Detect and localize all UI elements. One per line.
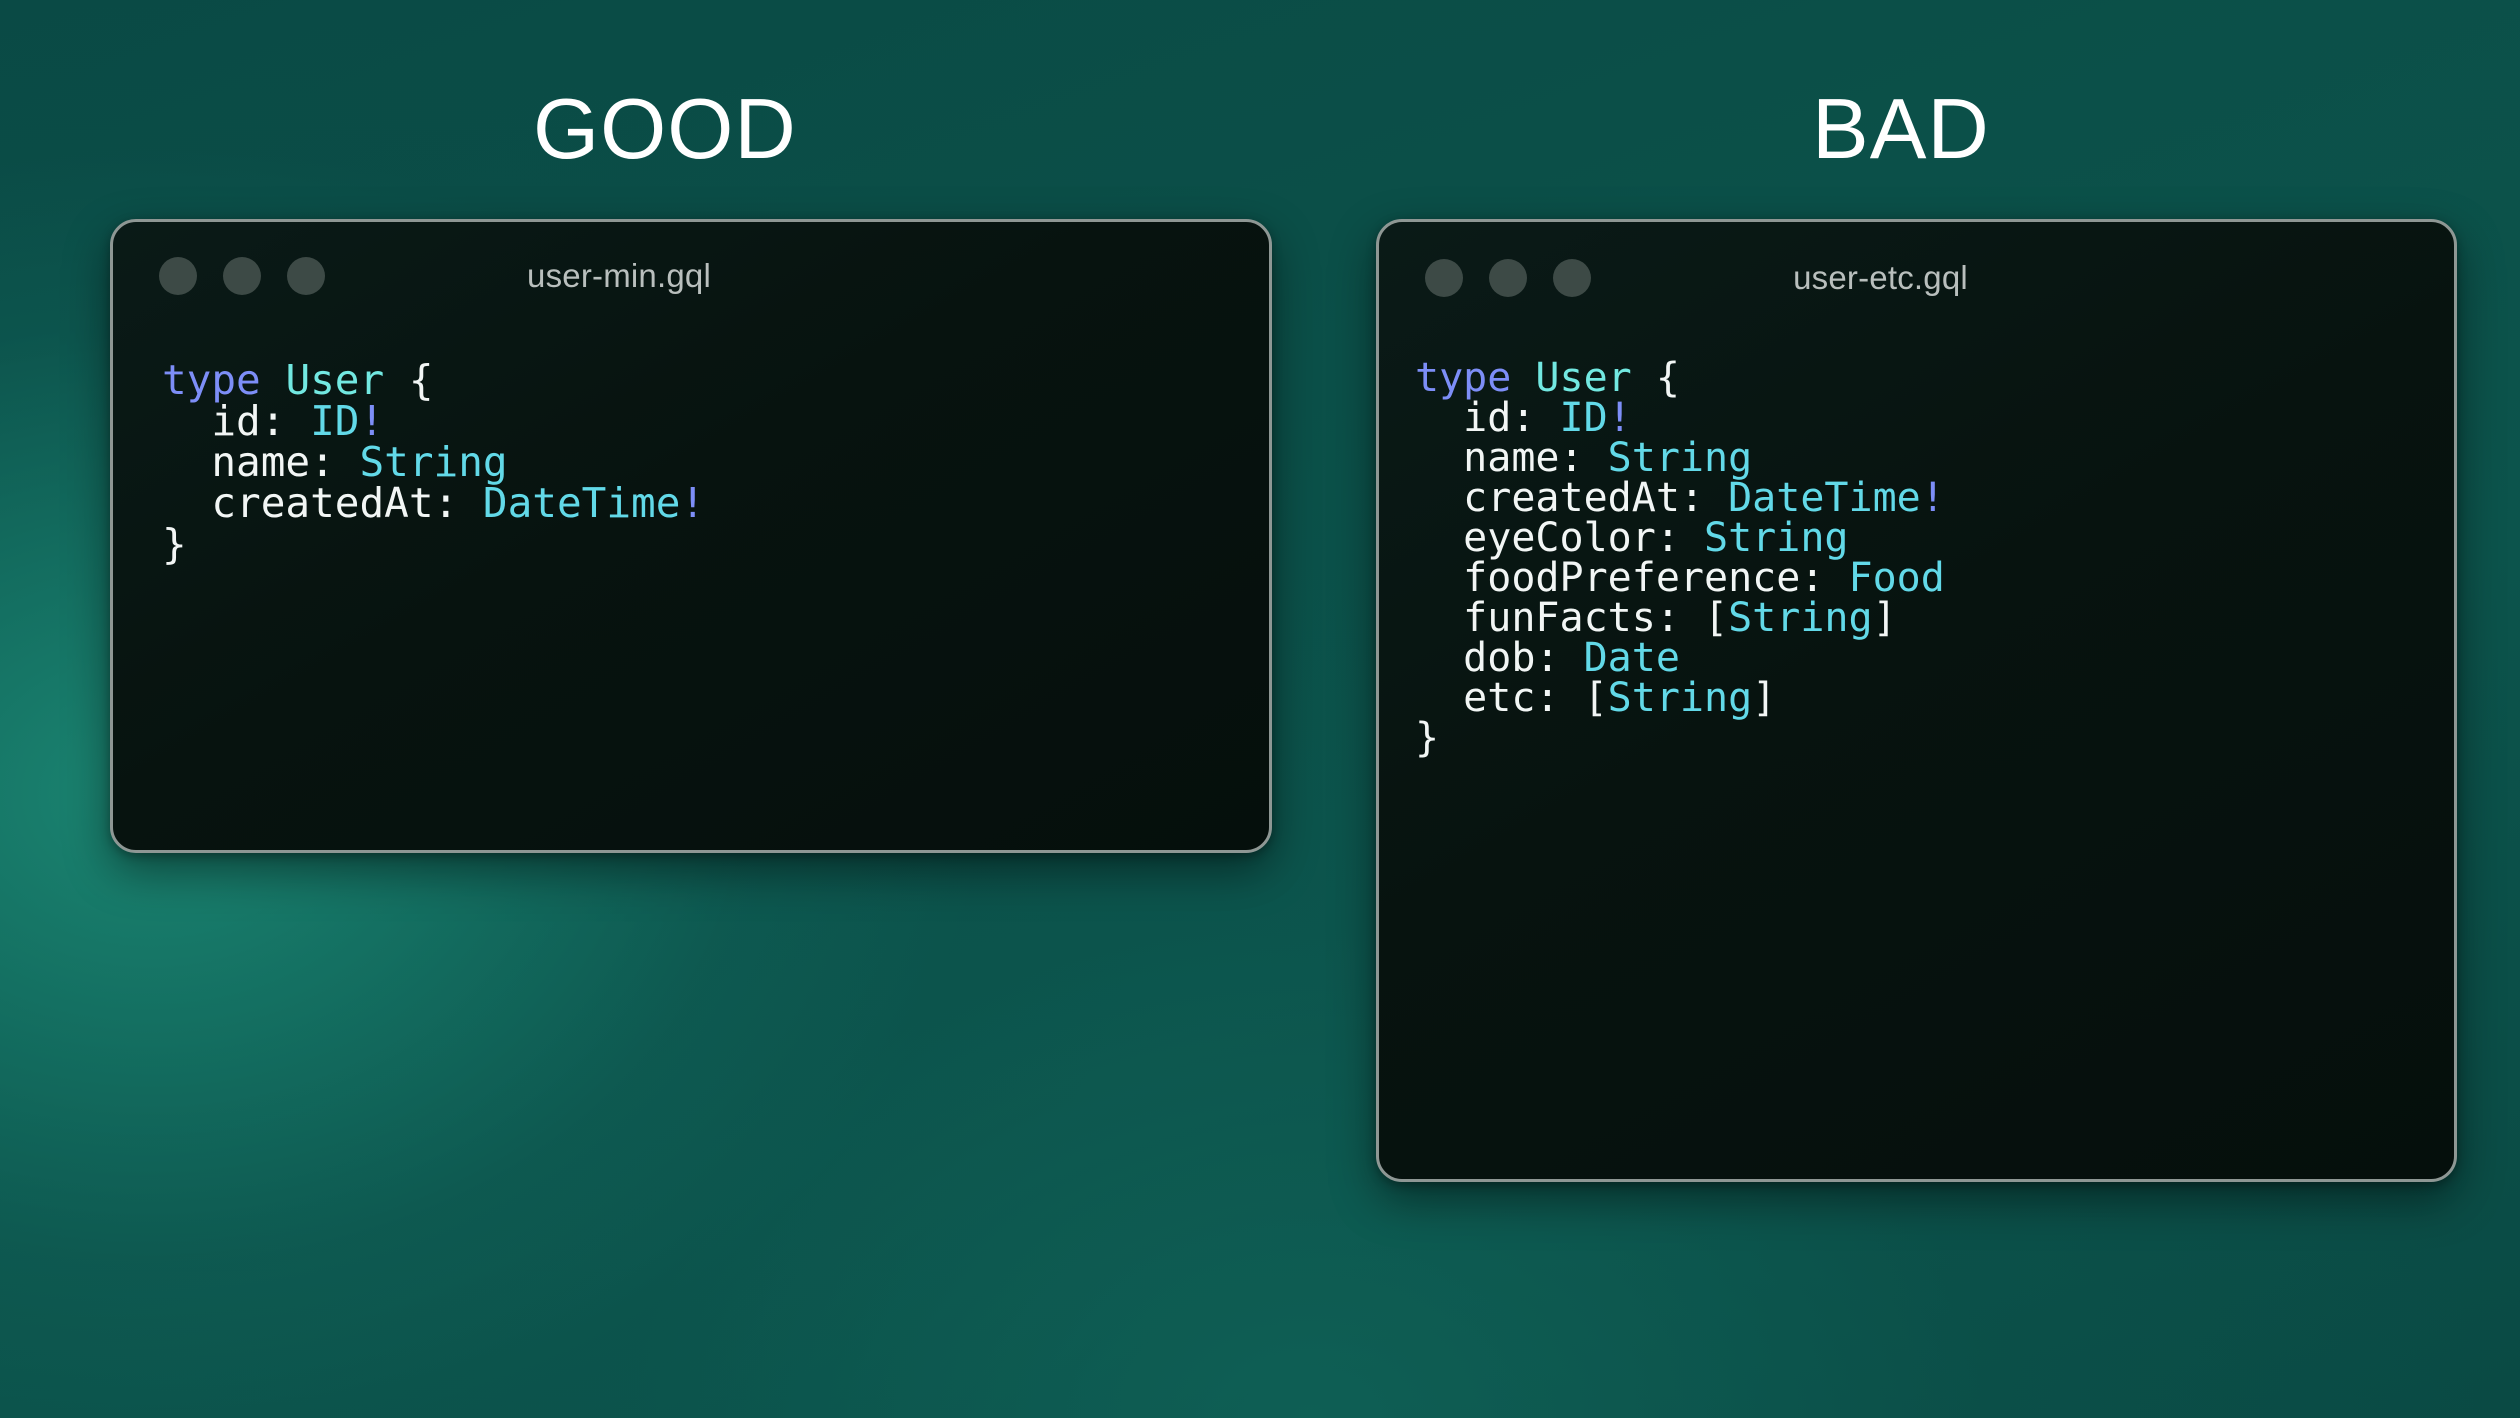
column-heading-bad: BAD [1812, 87, 1990, 172]
code-line: foodPreference: Food [1415, 540, 2454, 580]
code-block-bad: type User { id: ID! name: String created… [1379, 334, 2454, 740]
window-controls [1425, 259, 1591, 297]
code-token-plain: } [1415, 715, 1439, 761]
close-dot-icon[interactable] [1425, 259, 1463, 297]
maximize-dot-icon[interactable] [287, 257, 325, 295]
window-title-bar: user-etc.gql [1379, 222, 2454, 334]
code-line: id: ID! [162, 381, 1269, 422]
code-block-good: type User { id: ID! name: String created… [113, 330, 1269, 545]
comparison-stage: GOOD user-min.gql type User { id: ID! na… [0, 0, 2520, 1418]
code-line: name: String [162, 422, 1269, 463]
close-dot-icon[interactable] [159, 257, 197, 295]
code-token-bang: ! [1921, 475, 1945, 521]
code-token-plain: createdAt: [162, 479, 483, 527]
code-line: type User { [162, 340, 1269, 381]
code-token-plain: { [384, 356, 433, 404]
code-line: createdAt: DateTime! [1415, 460, 2454, 500]
code-token-bang: ! [680, 479, 705, 527]
code-token-type: String [1728, 595, 1873, 641]
code-token-plain: etc: [ [1415, 675, 1608, 721]
code-line: createdAt: DateTime! [162, 463, 1269, 504]
column-heading-good: GOOD [533, 87, 797, 172]
code-token-plain: ] [1752, 675, 1776, 721]
minimize-dot-icon[interactable] [1489, 259, 1527, 297]
window-title-bar: user-min.gql [113, 222, 1269, 330]
code-line: etc: [String] [1415, 660, 2454, 700]
code-token-type: DateTime [483, 479, 680, 527]
code-window-good: user-min.gql type User { id: ID! name: S… [110, 219, 1272, 853]
maximize-dot-icon[interactable] [1553, 259, 1591, 297]
code-token-type: String [1608, 675, 1753, 721]
code-window-bad: user-etc.gql type User { id: ID! name: S… [1376, 219, 2457, 1182]
code-line: dob: Date [1415, 620, 2454, 660]
code-line: name: String [1415, 420, 2454, 460]
code-token-plain: ] [1873, 595, 1897, 641]
code-line: type User { [1415, 340, 2454, 380]
code-token-plain: } [162, 520, 187, 568]
minimize-dot-icon[interactable] [223, 257, 261, 295]
code-line: id: ID! [1415, 380, 2454, 420]
code-token-plain: { [1632, 355, 1680, 401]
window-controls [159, 257, 325, 295]
